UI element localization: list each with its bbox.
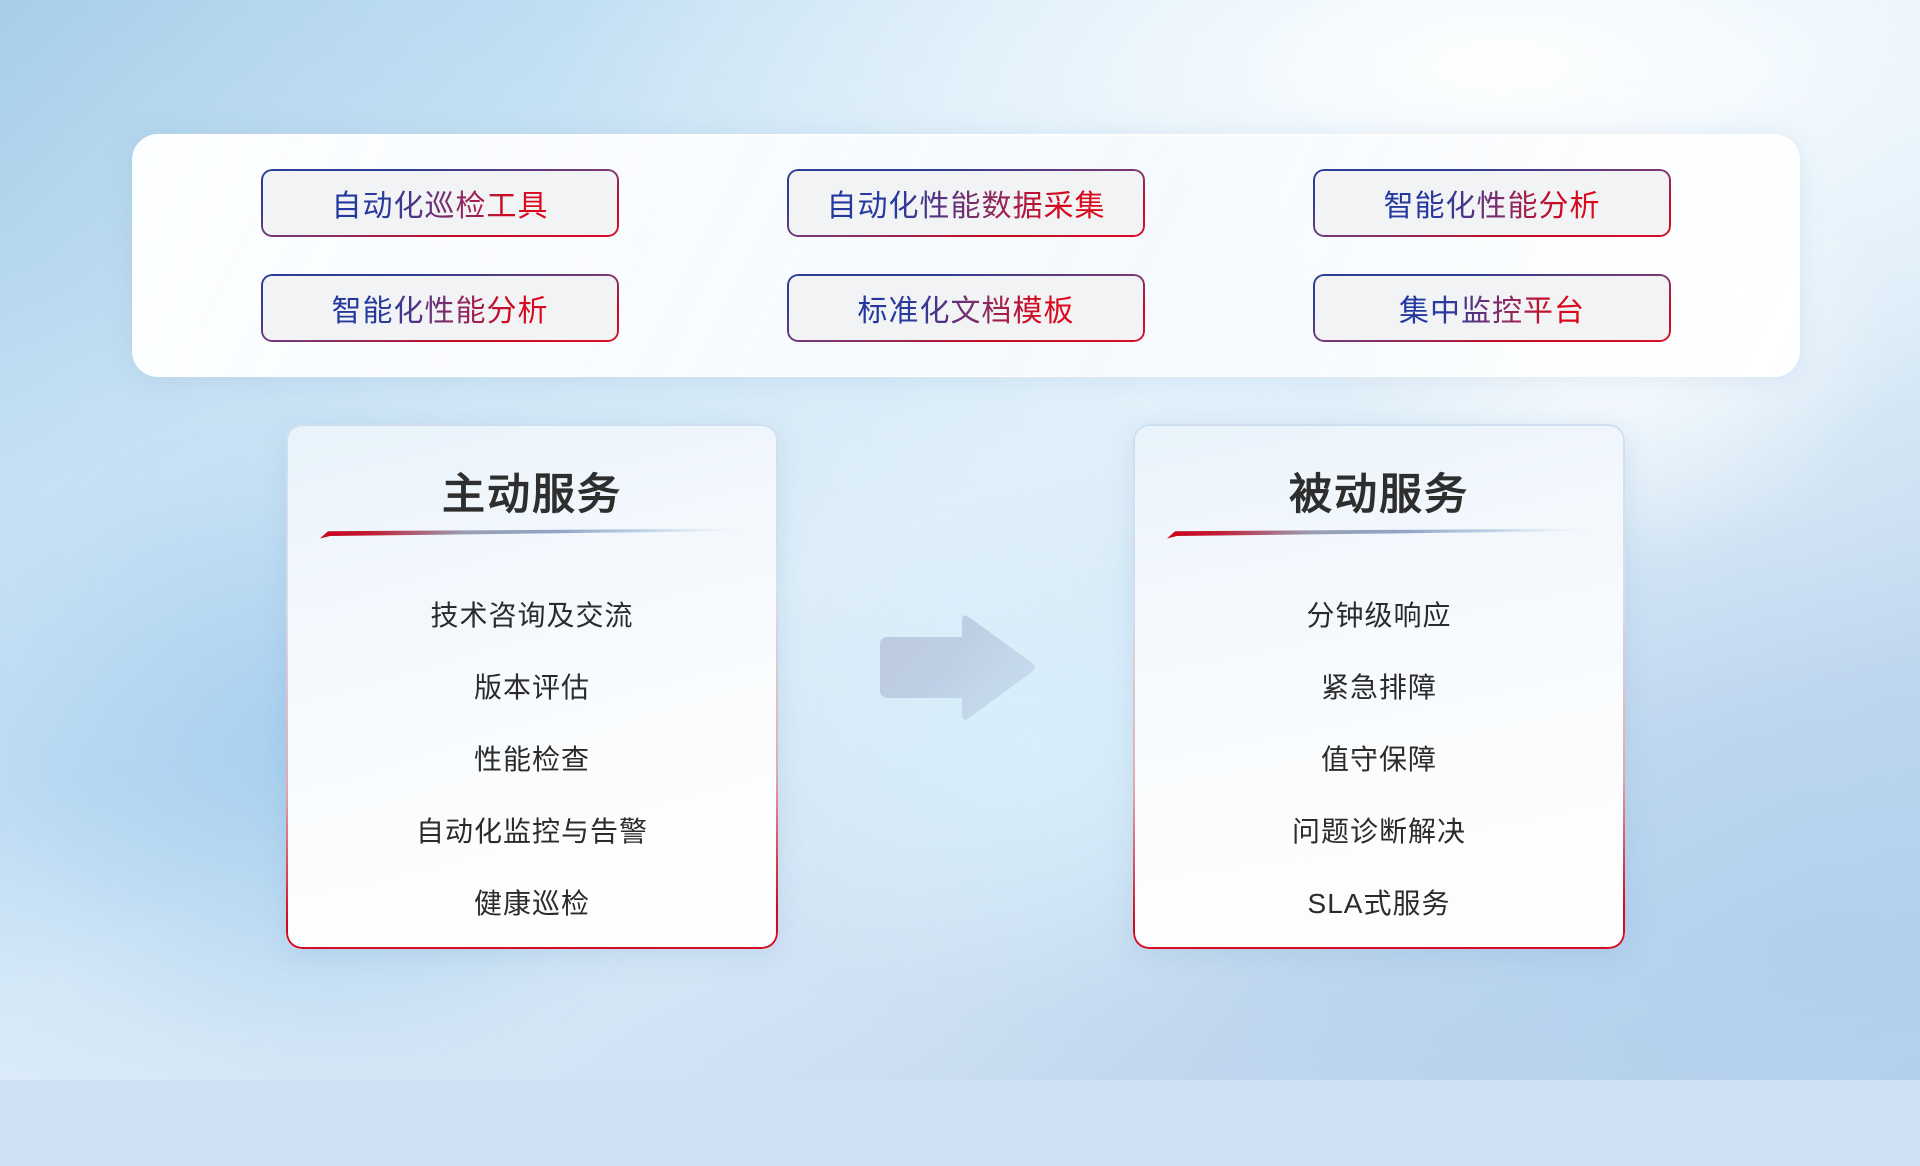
capability-tag-grid: 自动化巡检工具 自动化性能数据采集 智能化性能分析 智能化性能分析 标准化文档模… xyxy=(133,135,1799,376)
capability-tag-label: 智能化性能分析 xyxy=(332,286,549,330)
capability-tag[interactable]: 自动化性能数据采集 xyxy=(787,169,1145,237)
card-title: 被动服务 xyxy=(1133,460,1625,522)
card-list-item: 技术咨询及交流 xyxy=(430,580,633,652)
service-card-reactive: 被动服务 分钟级响应 紧急排障 值守保障 问题诊断解决 SLA式服务 xyxy=(1133,424,1625,949)
capability-tag[interactable]: 智能化性能分析 xyxy=(261,274,619,342)
capability-tag-label: 自动化巡检工具 xyxy=(332,181,549,225)
card-accent-rule xyxy=(320,528,744,539)
capability-tag-label: 智能化性能分析 xyxy=(1384,181,1601,225)
capability-tag[interactable]: 集中监控平台 xyxy=(1313,274,1671,342)
capability-tag-label: 标准化文档模板 xyxy=(858,286,1075,330)
card-list-item: 性能检查 xyxy=(474,724,590,796)
card-list-item: SLA式服务 xyxy=(1308,868,1451,940)
capability-tag-label: 自动化性能数据采集 xyxy=(827,181,1106,225)
card-item-list: 技术咨询及交流 版本评估 性能检查 自动化监控与告警 健康巡检 xyxy=(286,580,778,927)
capability-tag[interactable]: 标准化文档模板 xyxy=(787,274,1145,342)
card-list-item: 自动化监控与告警 xyxy=(416,796,648,868)
capability-tag[interactable]: 自动化巡检工具 xyxy=(261,169,619,237)
card-item-list: 分钟级响应 紧急排障 值守保障 问题诊断解决 SLA式服务 xyxy=(1133,580,1625,927)
card-accent-rule xyxy=(1167,528,1591,539)
capability-tag-panel: 自动化巡检工具 自动化性能数据采集 智能化性能分析 智能化性能分析 标准化文档模… xyxy=(132,134,1800,377)
card-list-item: 健康巡检 xyxy=(474,868,590,940)
card-title: 主动服务 xyxy=(286,460,778,522)
service-card-proactive: 主动服务 技术咨询及交流 版本评估 性能检查 自动化监控与告警 健康巡检 xyxy=(286,424,778,949)
card-list-item: 分钟级响应 xyxy=(1306,580,1451,652)
capability-tag[interactable]: 智能化性能分析 xyxy=(1313,169,1671,237)
card-list-item: 值守保障 xyxy=(1321,724,1437,796)
capability-tag-label: 集中监控平台 xyxy=(1399,286,1585,330)
right-arrow-icon xyxy=(872,613,1039,726)
card-list-item: 问题诊断解决 xyxy=(1292,796,1466,868)
card-list-item: 紧急排障 xyxy=(1321,652,1437,724)
card-list-item: 版本评估 xyxy=(474,652,590,724)
